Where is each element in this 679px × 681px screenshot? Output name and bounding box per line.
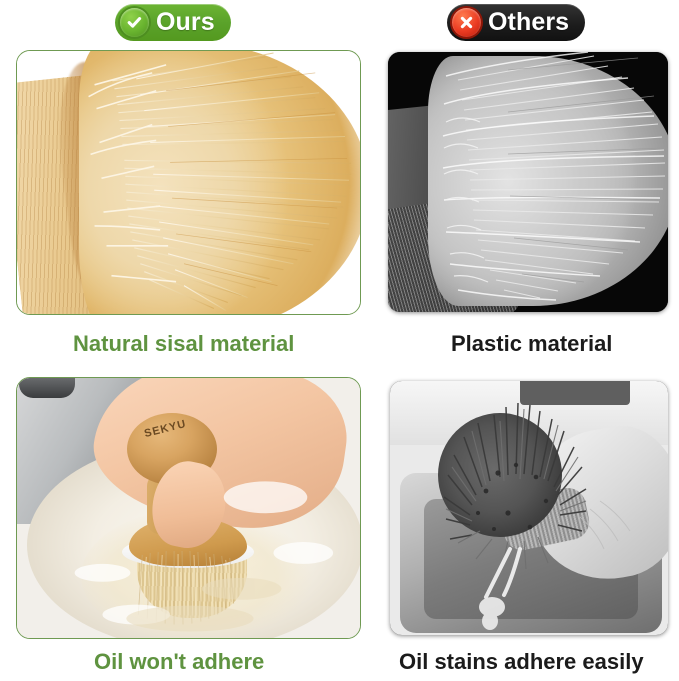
caption-ours-oil: Oil won't adhere xyxy=(94,651,264,673)
panel-others-oil xyxy=(390,381,668,635)
image-hand-scrubbing-plate: SEKYU xyxy=(17,378,360,638)
panel-ours-material xyxy=(16,50,361,315)
image-natural-sisal-bristles xyxy=(17,51,360,314)
cross-circle-icon xyxy=(452,8,481,37)
badge-ours: Ours xyxy=(115,4,231,41)
panel-ours-oil: SEKYU xyxy=(16,377,361,639)
comparison-infographic: Ours Others xyxy=(0,0,679,681)
badge-ours-label: Ours xyxy=(156,10,215,35)
caption-others-material: Plastic material xyxy=(451,333,612,355)
check-circle-icon xyxy=(120,8,149,37)
image-plastic-bristles xyxy=(388,52,668,312)
image-dirty-brush-over-sink xyxy=(390,381,668,635)
caption-others-oil: Oil stains adhere easily xyxy=(399,651,644,673)
badge-others-label: Others xyxy=(488,10,569,35)
panel-others-material xyxy=(388,52,668,312)
badge-others: Others xyxy=(447,4,585,41)
caption-ours-material: Natural sisal material xyxy=(73,333,294,355)
